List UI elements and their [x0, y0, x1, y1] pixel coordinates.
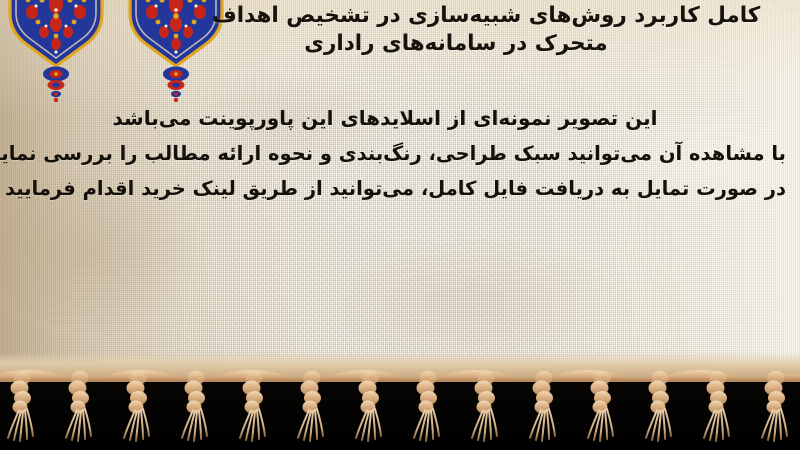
body-line-3: در صورت تمایل به دریافت فایل کامل، می‌تو…: [14, 177, 786, 200]
carpet-tassel-fringe: [0, 348, 800, 450]
body-line-2: با مشاهده آن می‌توانید سبک طراحی، رنگ‌بن…: [14, 142, 786, 165]
body-text-block: این تصویر نمونه‌ای از اسلایدهای این پاور…: [14, 106, 786, 200]
slide-title: کامل کاربرد روش‌های شبیه‌سازی در تشخیص ا…: [196, 2, 776, 58]
body-line-1: این تصویر نمونه‌ای از اسلایدهای این پاور…: [14, 106, 786, 130]
slide-canvas: کامل کاربرد روش‌های شبیه‌سازی در تشخیص ا…: [0, 0, 800, 450]
title-line-1: کامل کاربرد روش‌های شبیه‌سازی در تشخیص ا…: [196, 2, 776, 30]
carpet-medallion-icon: [8, 0, 104, 102]
title-line-2: متحرک در سامانه‌های راداری: [196, 30, 776, 58]
